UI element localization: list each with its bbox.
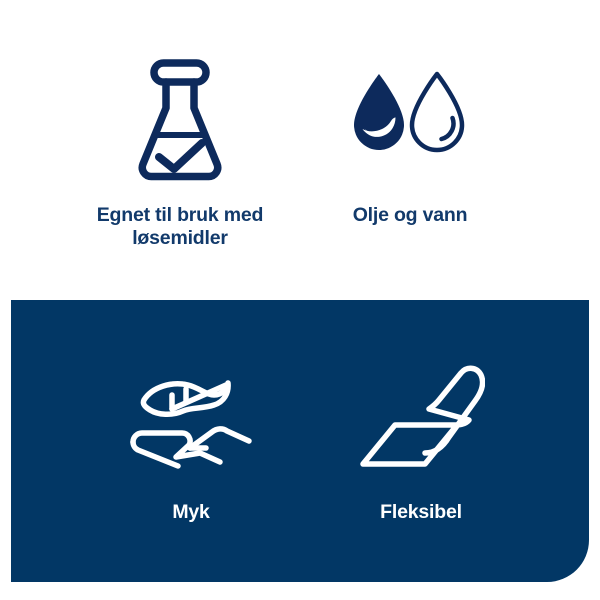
feature-label: Fleksibel — [380, 501, 462, 524]
top-features-section: Egnet til bruk med løsemidler Olje og va… — [0, 0, 600, 300]
hand-with-leaf-icon — [128, 360, 254, 475]
bottom-features-panel: Myk Fleksibel — [11, 300, 589, 582]
feature-badge-board: Egnet til bruk med løsemidler Olje og va… — [0, 0, 600, 600]
feature-label: Egnet til bruk med løsemidler — [97, 204, 264, 249]
feature-label: Myk — [172, 501, 209, 524]
oil-and-water-droplets-icon — [351, 60, 469, 180]
feature-solvent-resistant: Egnet til bruk med løsemidler — [55, 60, 305, 249]
feature-flexible: Fleksibel — [306, 360, 536, 524]
feature-soft: Myk — [71, 360, 311, 524]
flexible-bending-sheet-icon — [357, 360, 485, 475]
feature-label: Olje og vann — [353, 204, 468, 227]
flask-check-icon — [134, 60, 226, 180]
feature-oil-and-water: Olje og vann — [310, 60, 510, 227]
